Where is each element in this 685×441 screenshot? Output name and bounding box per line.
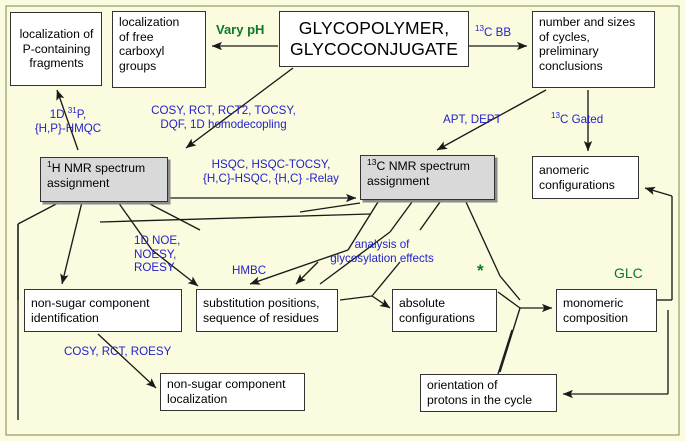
oned-31p-prefix: 1D [50,108,68,121]
c13-bb-text: C BB [484,26,511,39]
edge-label-glc: GLC [614,267,643,281]
c13-gated-text: C Gated [560,113,603,126]
h-nmr-label: H NMR spectrum assignment [47,161,145,190]
oned-31p-suffix: P, [77,108,86,121]
edge-label-hmbc: HMBC [232,264,266,278]
oned-31p-superscript: 31 [68,106,77,115]
node-anomeric-configurations[interactable]: anomeric configurations [532,156,639,199]
edge-label-1d-31p-hp-hmqc: 1D 31P,{H,P}-HMQC [13,108,123,135]
edge-label-c13-bb: 13C BB [475,26,511,40]
edge-label-apt-dept: APT, DEPT [443,113,502,127]
node-h-nmr-spectrum-assignment[interactable]: 1H NMR spectrum assignment [40,157,168,202]
node-glycopolymer-glycoconjugate[interactable]: GLYCOPOLYMER, GLYCOCONJUGATE [279,11,469,67]
node-absolute-configurations[interactable]: absolute configurations [392,289,497,332]
node-c13-nmr-spectrum-assignment[interactable]: 13C NMR spectrum assignment [360,155,495,200]
node-p-containing-fragments[interactable]: localization of P-containing fragments [10,12,102,86]
edge-label-cosy-rct-roesy: COSY, RCT, ROESY [64,345,171,359]
c13-gated-superscript: 13 [551,111,560,120]
edge-label-vary-ph: Vary pH [216,23,264,37]
edge-label-cosy-rct-tocsy: COSY, RCT, RCT2, TOCSY, DQF, 1D homodeco… [136,104,311,131]
node-monomeric-composition[interactable]: monomeric composition [556,289,657,332]
edge-label-c13-gated: 13C Gated [551,113,603,127]
node-nonsugar-component-localization[interactable]: non-sugar component localization [160,373,305,411]
edge-label-hsqc-relay: HSQC, HSQC-TOCSY, {H,C}-HSQC, {H,C} -Rel… [176,158,366,185]
c13-nmr-superscript: 13 [367,159,377,173]
edge-label-asterisk: * [477,264,484,278]
c13-nmr-label: C NMR spectrum assignment [367,159,470,188]
node-substitution-positions[interactable]: substitution positions, sequence of resi… [196,289,338,332]
node-nonsugar-component-identification[interactable]: non-sugar component identification [24,289,182,332]
node-cycles-preliminary-conclusions[interactable]: number and sizes of cycles, preliminary … [532,11,655,88]
edge-label-1d-noe-noesy-roesy: 1D NOE, NOESY, ROESY [134,234,180,275]
diagram-canvas: localization of P-containing fragments l… [0,0,685,441]
hp-hmqc-text: {H,P}-HMQC [35,122,101,135]
node-free-carboxyl-groups[interactable]: localization of free carboxyl groups [112,11,206,88]
node-orientation-of-protons[interactable]: orientation of protons in the cycle [420,374,557,412]
c13-bb-superscript: 13 [475,24,484,33]
edge-label-glycosylation-effects: analysis of glycosylation effects [318,238,446,265]
